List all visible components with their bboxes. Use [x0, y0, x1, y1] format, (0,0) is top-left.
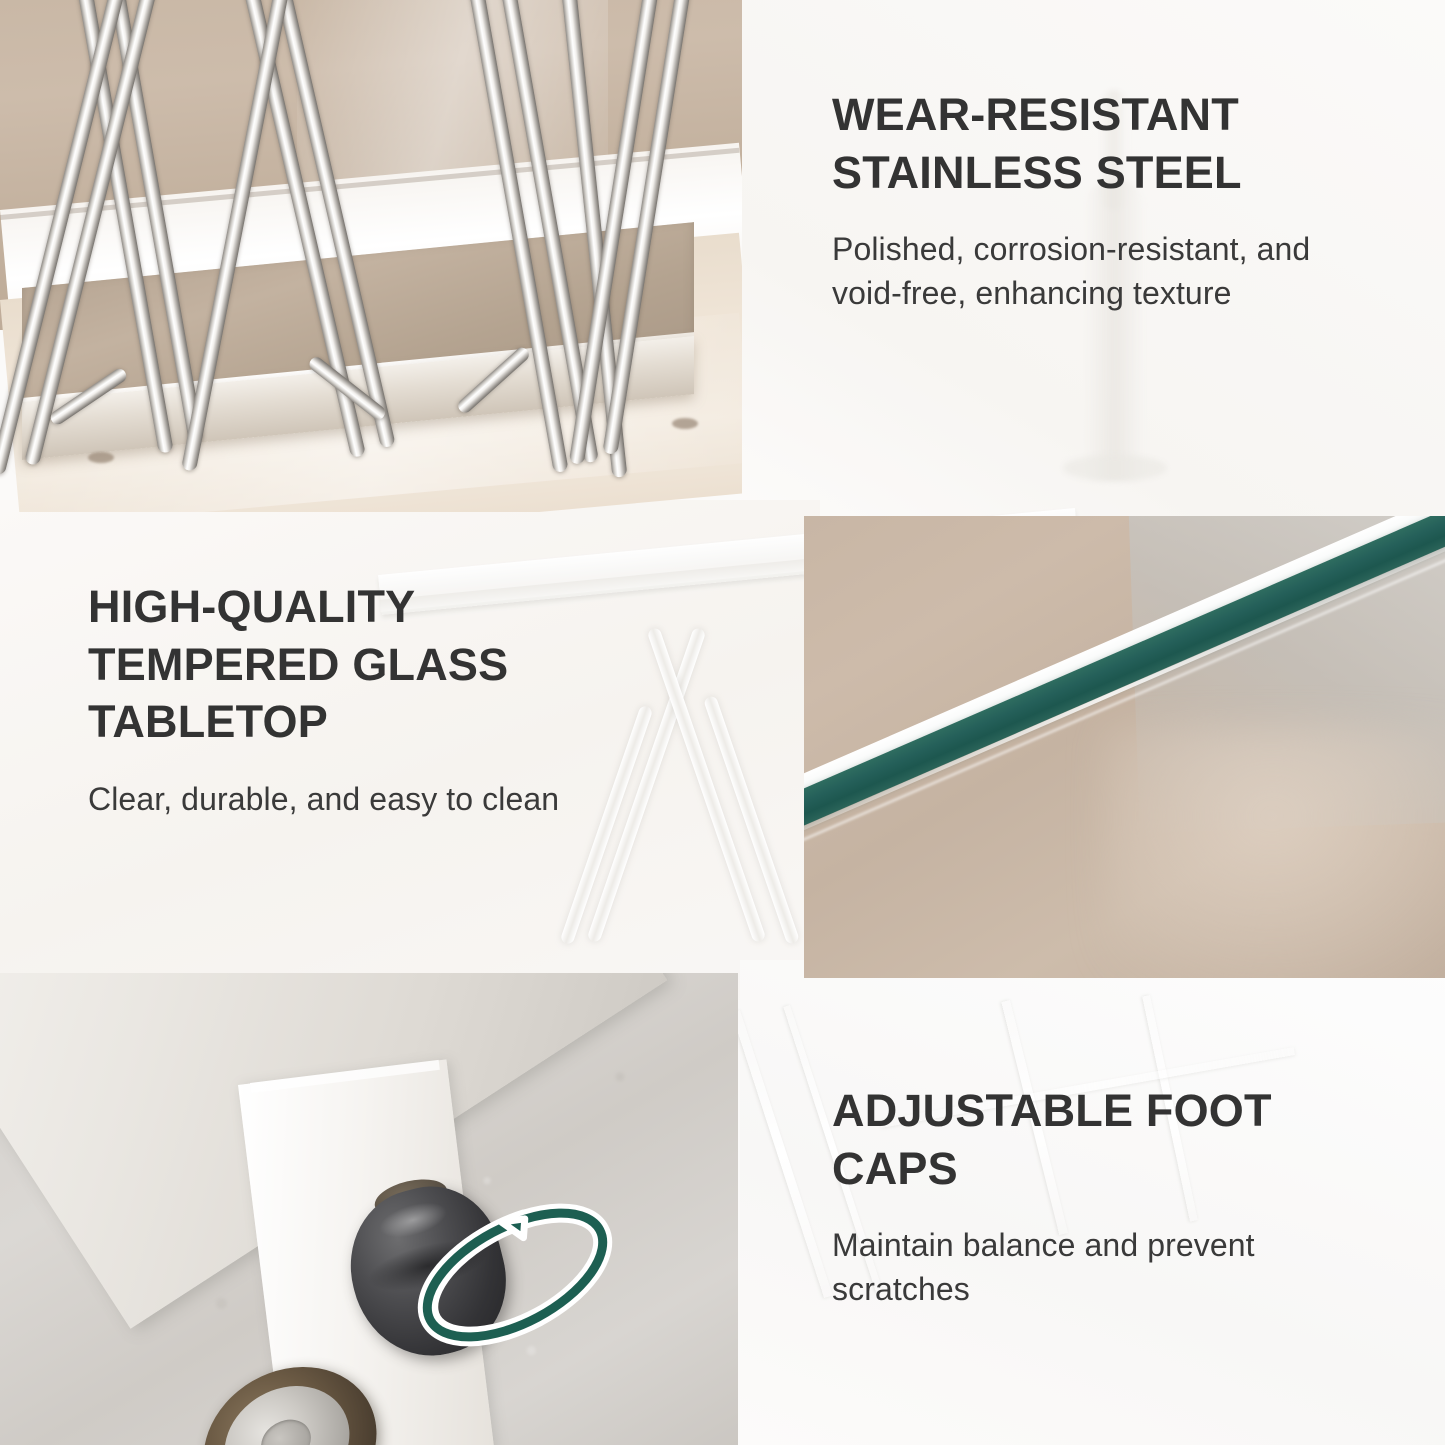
feature-heading-stainless-steel: WEAR-RESISTANT STAINLESS STEEL — [832, 86, 1362, 201]
feature-text-adjustable-foot-caps: ADJUSTABLE FOOT CAPS Maintain balance an… — [832, 1082, 1372, 1312]
glass-photo-bokeh — [1104, 726, 1445, 978]
feature-body-adjustable-foot-caps: Maintain balance and prevent scratches — [832, 1223, 1372, 1311]
feature-text-stainless-steel: WEAR-RESISTANT STAINLESS STEEL Polished,… — [832, 86, 1362, 316]
base-foot-left — [88, 452, 114, 463]
feature-text-tempered-glass: HIGH-QUALITY TEMPERED GLASS TABLETOP Cle… — [88, 578, 628, 821]
feature-body-tempered-glass: Clear, durable, and easy to clean — [88, 777, 628, 821]
feature-heading-adjustable-foot-caps: ADJUSTABLE FOOT CAPS — [832, 1082, 1372, 1197]
feature-body-stainless-steel: Polished, corrosion-resistant, and void-… — [832, 227, 1362, 315]
rotation-arrow-icon — [400, 1160, 630, 1390]
base-foot-right — [672, 418, 698, 429]
ghost-vase-foot-icon — [1063, 455, 1167, 481]
feature-heading-tempered-glass: HIGH-QUALITY TEMPERED GLASS TABLETOP — [88, 578, 628, 751]
stainless-steel-base-photo — [0, 0, 742, 512]
tempered-glass-edge-photo — [804, 516, 1445, 978]
